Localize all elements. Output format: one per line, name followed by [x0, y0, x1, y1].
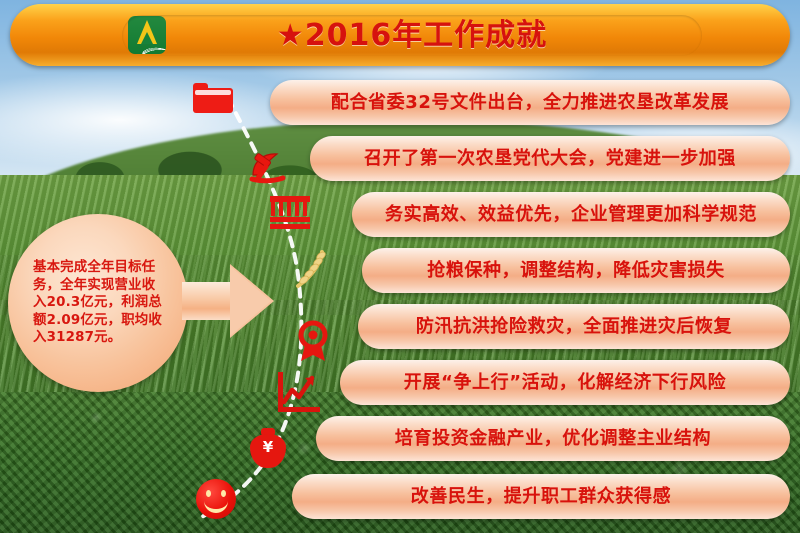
smiley-mouth — [204, 497, 228, 513]
building-base-upper — [270, 217, 310, 222]
page-title: ★2016年工作成就 — [277, 21, 547, 51]
achievement-label: 开展“争上行”活动，化解经济下行风险 — [404, 374, 726, 392]
building-columns — [271, 202, 309, 216]
achievement-item-2[interactable]: 召开了第一次农垦党代大会，党建进一步加强 — [310, 136, 790, 181]
hammer-sickle-icon — [247, 145, 289, 189]
money-bag-symbol: ¥ — [248, 440, 288, 455]
building-icon — [270, 196, 310, 230]
achievement-item-1[interactable]: 配合省委32号文件出台，全力推进农垦改革发展 — [270, 80, 790, 125]
money-bag-icon: ¥ — [248, 428, 288, 470]
summary-bubble: 基本完成全年目标任务，全年实现营业收入20.3亿元，利润总额2.09亿元，职均收… — [8, 214, 188, 392]
achievement-item-6[interactable]: 开展“争上行”活动，化解经济下行风险 — [340, 360, 790, 405]
achievement-label: 培育投资金融产业，优化调整主业结构 — [395, 430, 711, 448]
achievement-label: 召开了第一次农垦党代大会，党建进一步加强 — [364, 150, 736, 168]
folder-icon — [193, 83, 233, 113]
smiley-icon — [196, 479, 236, 519]
summary-text: 基本完成全年目标任务，全年实现营业收入20.3亿元，利润总额2.09亿元，职均收… — [33, 259, 163, 346]
achievement-label: 配合省委32号文件出台，全力推进农垦改革发展 — [331, 94, 729, 112]
building-base-lower — [270, 224, 310, 229]
smiley-eye-right — [221, 490, 226, 497]
rising-chart-icon — [276, 372, 320, 414]
folder-lip — [195, 90, 231, 95]
slide-canvas: ★2016年工作成就 基本完成全年目标任务，全年实现营业收入20.3亿元，利润总… — [0, 0, 800, 533]
achievement-label: 抢粮保种，调整结构，降低灾害损失 — [427, 262, 725, 280]
wheat-icon — [290, 248, 330, 290]
arrow-shaft — [182, 282, 234, 320]
achievement-item-4[interactable]: 抢粮保种，调整结构，降低灾害损失 — [362, 248, 790, 293]
achievement-item-5[interactable]: 防汛抗洪抢险救灾，全面推进灾后恢复 — [358, 304, 790, 349]
right-arrow-icon — [182, 264, 274, 338]
achievement-label: 务实高效、效益优先，企业管理更加科学规范 — [385, 206, 757, 224]
title-inner-plate: ★2016年工作成就 — [122, 15, 702, 56]
chart-trend-line — [276, 372, 320, 414]
achievement-label: 改善民生，提升职工群众获得感 — [411, 488, 671, 506]
achievement-item-3[interactable]: 务实高效、效益优先，企业管理更加科学规范 — [352, 192, 790, 237]
achievement-item-8[interactable]: 改善民生，提升职工群众获得感 — [292, 474, 790, 519]
title-bar: ★2016年工作成就 — [10, 4, 790, 66]
achievement-label: 防汛抗洪抢险救灾，全面推进灾后恢复 — [416, 318, 732, 336]
achievement-item-7[interactable]: 培育投资金融产业，优化调整主业结构 — [316, 416, 790, 461]
medal-icon — [293, 320, 333, 362]
smiley-eye-left — [206, 490, 211, 497]
arrow-head-inner — [230, 266, 271, 336]
